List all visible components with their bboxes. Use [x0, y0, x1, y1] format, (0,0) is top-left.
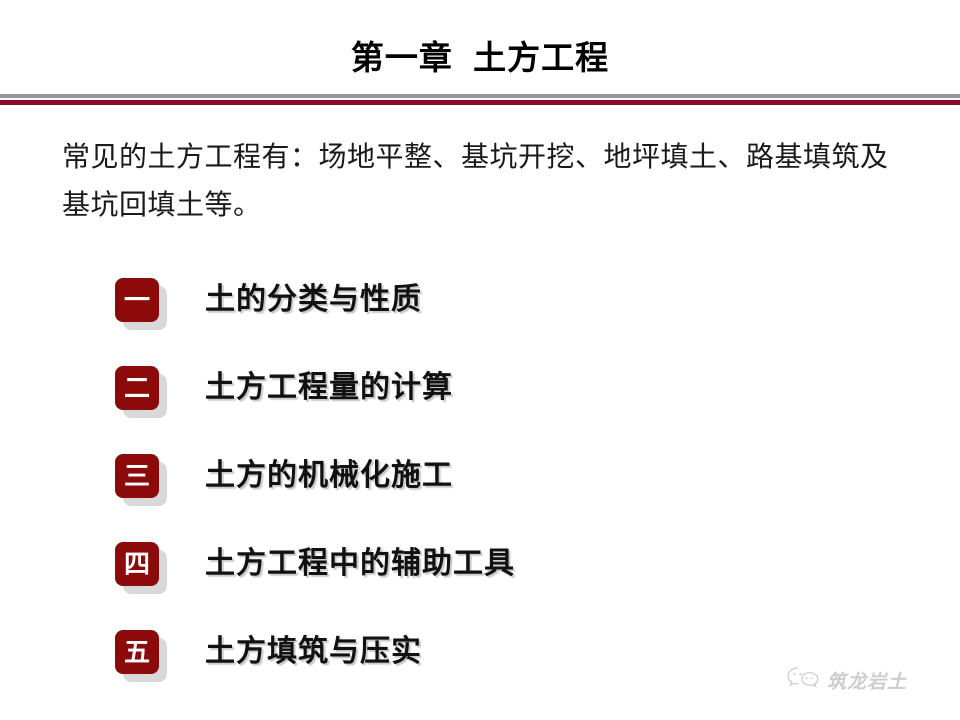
item-number-badge: 二 [115, 366, 167, 418]
slide-canvas: 第一章 土方工程 常见的土方工程有：场地平整、基坑开挖、地坪填土、路基填筑及基坑… [0, 0, 960, 720]
list-item-label: 土方的机械化施工 [205, 450, 453, 502]
list-item[interactable]: 三 土方的机械化施工 [0, 444, 960, 532]
list-item-label: 土方工程量的计算 [205, 362, 453, 414]
item-number-badge: 五 [115, 630, 167, 682]
page-title: 第一章 土方工程 [0, 36, 960, 80]
badge-numeral: 三 [115, 454, 159, 498]
badge-numeral: 二 [115, 366, 159, 410]
intro-paragraph: 常见的土方工程有：场地平整、基坑开挖、地坪填土、路基填筑及基坑回填土等。 [62, 133, 892, 229]
list-item-label: 土方工程中的辅助工具 [205, 538, 515, 590]
header-divider-red [0, 100, 960, 105]
list-item-label: 土方填筑与压实 [205, 626, 422, 678]
watermark-label: 筑龙岩土 [827, 667, 907, 694]
wechat-icon [786, 666, 820, 694]
list-item[interactable]: 五 土方填筑与压实 [0, 620, 960, 708]
item-number-badge: 一 [115, 278, 167, 330]
item-number-badge: 三 [115, 454, 167, 506]
badge-numeral: 四 [115, 542, 159, 586]
list-item[interactable]: 四 土方工程中的辅助工具 [0, 532, 960, 620]
table-of-contents: 一 土的分类与性质 二 土方工程量的计算 三 土方的机械化施工 四 土方工程中的… [0, 268, 960, 708]
watermark: 筑龙岩土 [786, 666, 907, 694]
badge-numeral: 一 [115, 278, 159, 322]
list-item[interactable]: 一 土的分类与性质 [0, 268, 960, 356]
list-item[interactable]: 二 土方工程量的计算 [0, 356, 960, 444]
badge-numeral: 五 [115, 630, 159, 674]
list-item-label: 土的分类与性质 [205, 274, 422, 326]
item-number-badge: 四 [115, 542, 167, 594]
